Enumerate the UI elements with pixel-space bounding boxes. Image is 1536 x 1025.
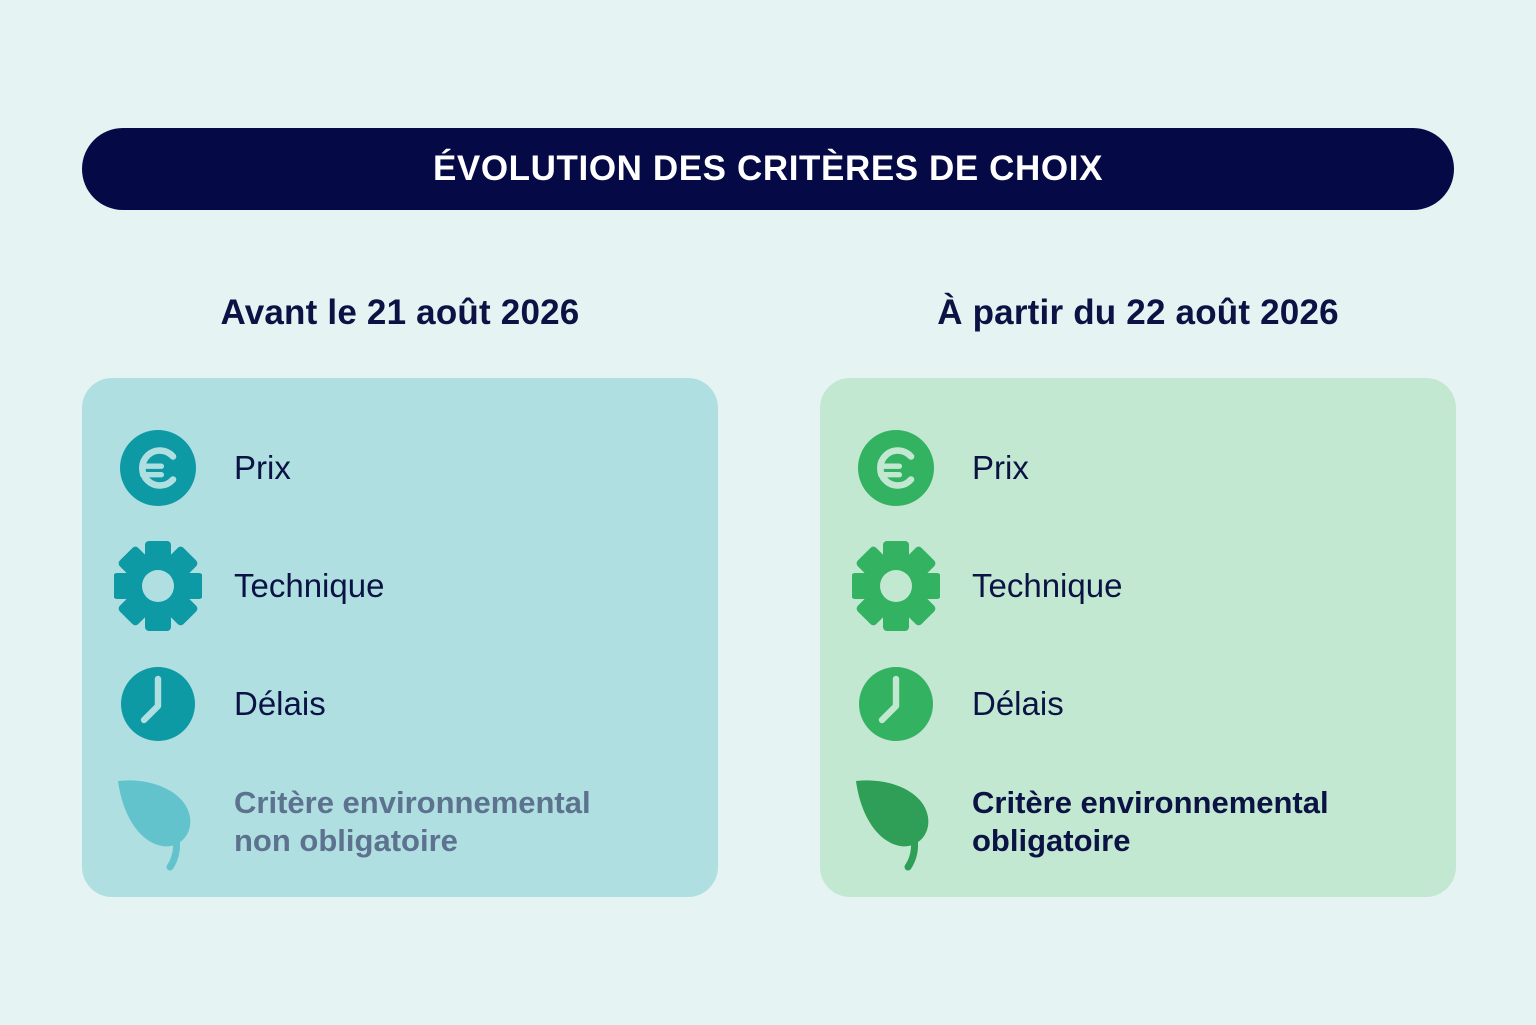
- criteria-row: Délais: [848, 656, 1428, 752]
- euro-icon: [110, 420, 206, 516]
- criteria-label: Délais: [234, 684, 326, 724]
- clock-icon: [848, 656, 944, 752]
- column-heading-before: Avant le 21 août 2026: [82, 282, 718, 344]
- criteria-card-after: Prix Technique: [820, 378, 1456, 897]
- criteria-row: Critère environnemental obligatoire: [848, 774, 1428, 870]
- criteria-row: Critère environnemental non obligatoire: [110, 774, 690, 870]
- criteria-row: Technique: [110, 538, 690, 634]
- criteria-label: Technique: [972, 566, 1122, 606]
- gear-icon: [848, 538, 944, 634]
- criteria-label-line1: Critère environnemental: [972, 784, 1329, 822]
- column-heading-after: À partir du 22 août 2026: [820, 282, 1456, 344]
- criteria-label: Critère environnemental obligatoire: [972, 784, 1329, 860]
- criteria-label: Prix: [234, 448, 291, 488]
- criteria-label: Prix: [972, 448, 1029, 488]
- euro-icon: [848, 420, 944, 516]
- criteria-card-before: Prix Technique: [82, 378, 718, 897]
- criteria-row: Délais: [110, 656, 690, 752]
- criteria-label-line2: obligatoire: [972, 822, 1329, 860]
- gear-icon: [110, 538, 206, 634]
- criteria-label: Critère environnemental non obligatoire: [234, 784, 591, 860]
- criteria-row: Prix: [110, 420, 690, 516]
- leaf-icon: [848, 774, 944, 870]
- criteria-label-line2: non obligatoire: [234, 822, 591, 860]
- column-before: Avant le 21 août 2026 Prix: [82, 282, 718, 897]
- leaf-icon: [110, 774, 206, 870]
- criteria-row: Technique: [848, 538, 1428, 634]
- comparison-columns: Avant le 21 août 2026 Prix: [0, 0, 1536, 1025]
- clock-icon: [110, 656, 206, 752]
- infographic-page: { "header": { "title": "ÉVOLUTION DES CR…: [0, 0, 1536, 1025]
- criteria-row: Prix: [848, 420, 1428, 516]
- criteria-label: Délais: [972, 684, 1064, 724]
- criteria-label-line1: Critère environnemental: [234, 784, 591, 822]
- column-after: À partir du 22 août 2026 Prix: [820, 282, 1456, 897]
- criteria-label: Technique: [234, 566, 384, 606]
